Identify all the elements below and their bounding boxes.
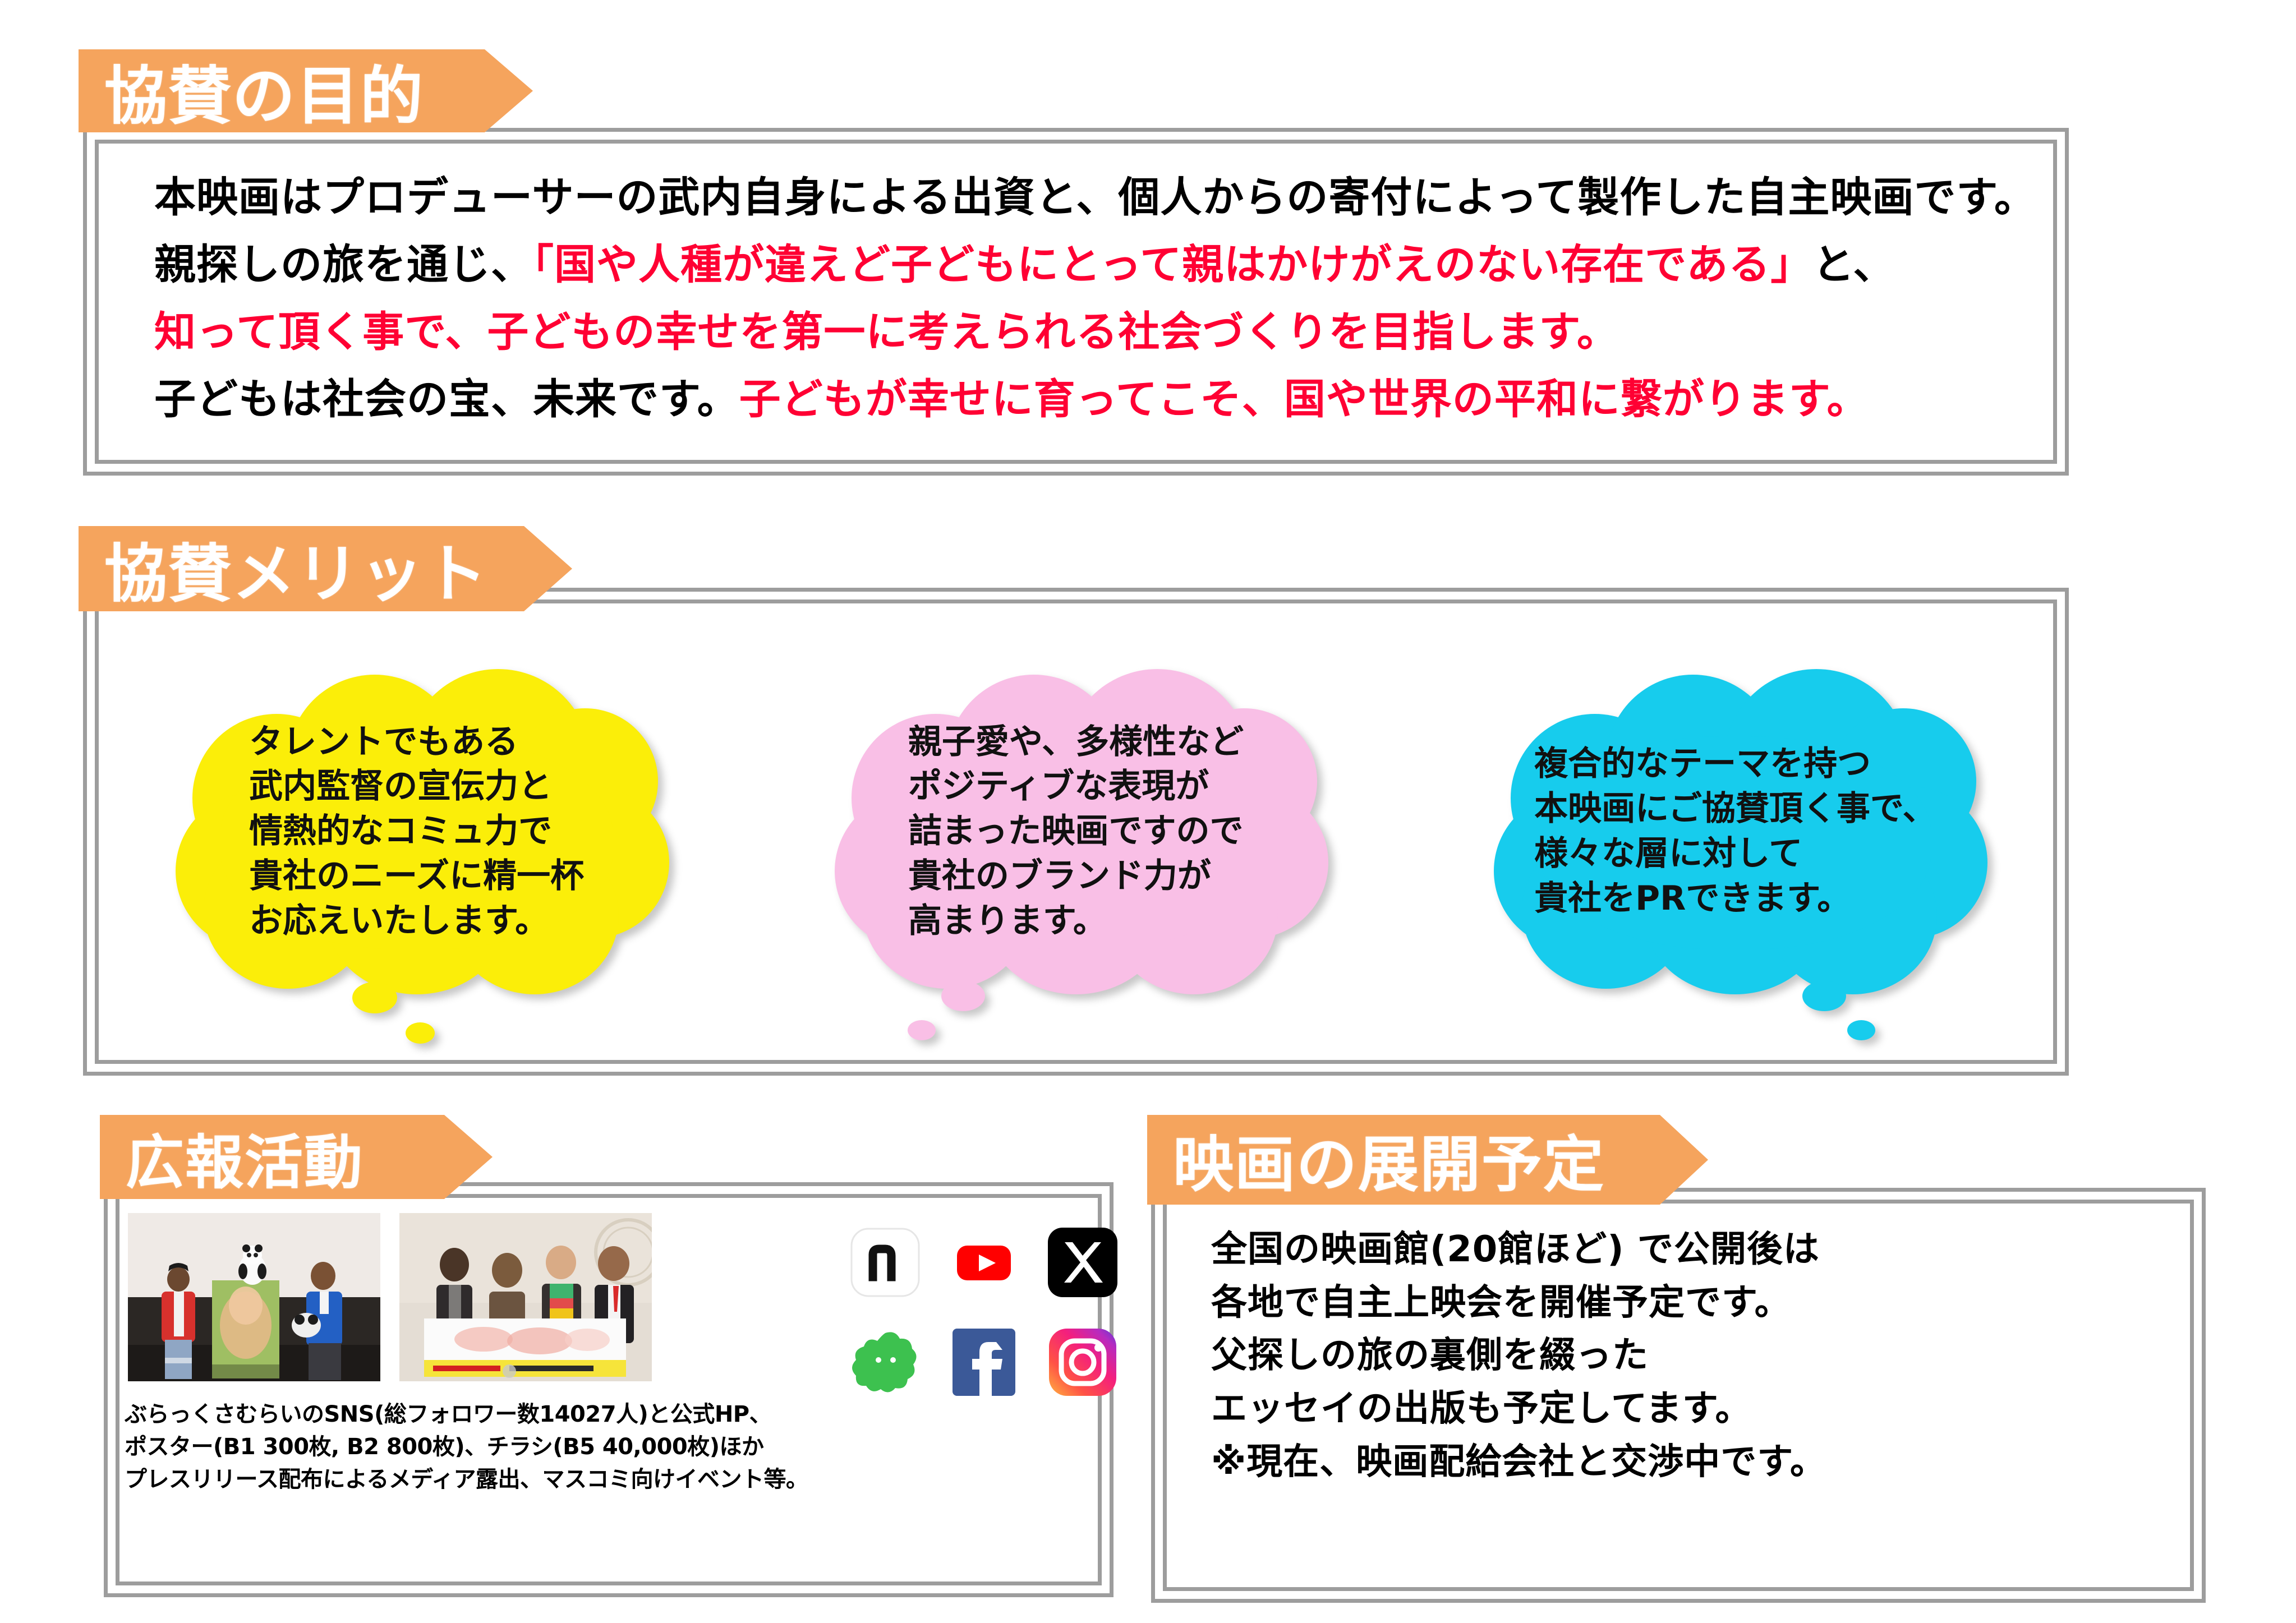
release-line-2: 各地で自主上映会を開催予定です。 <box>1211 1276 1826 1330</box>
release-line-1: 全国の映画館(20館ほど) で公開後は <box>1211 1223 1826 1276</box>
merit-banner-label: 協賛メリット <box>104 523 488 614</box>
purpose-banner: 協賛の目的 <box>79 49 533 132</box>
merit-bubble-cyan-text: 複合的なテーマを持つ 本映画にご協賛頂く事で、 様々な層に対して 貴社をPRでき… <box>1534 742 1936 921</box>
merit-banner: 協賛メリット <box>79 526 572 611</box>
pr-photo-1-image <box>128 1213 380 1381</box>
purpose-line-4-seg-1: 子どもは社会の宝、未来です。 <box>154 375 739 423</box>
purpose-line-2: 親探しの旅を通じ、「国や人種が違えど子どもにとって親はかけがえのない存在である」… <box>154 232 2031 299</box>
facebook-icon[interactable] <box>947 1325 1021 1399</box>
merit-bubble-yellow: タレントでもある 武内監督の宣伝力と 情熱的なコミュ力で 貴社のニーズに精一杯 … <box>170 663 664 1000</box>
purpose-line-4: 子どもは社会の宝、未来です。子どもが幸せに育ってこそ、国や世界の平和に繋がります… <box>154 366 2031 434</box>
pr-caption-line-1: ぶらっくさむらいのSNS(総フォロワー数14027人)と公式HP、 <box>125 1398 1098 1431</box>
pr-photo-2-image <box>399 1213 652 1381</box>
release-line-3: 父探しの旅の裏側を綴った <box>1211 1329 1826 1382</box>
pr-photo-row <box>128 1213 652 1381</box>
merit-yellow-line-5: お応えいたします。 <box>249 899 584 944</box>
ameba-icon[interactable] <box>848 1325 922 1399</box>
pr-photo-1 <box>128 1213 380 1381</box>
merit-bubble-cyan: 複合的なテーマを持つ 本映画にご協賛頂く事で、 様々な層に対して 貴社をPRでき… <box>1488 663 1982 1000</box>
merit-panel: タレントでもある 武内監督の宣伝力と 情熱的なコミュ力で 貴社のニーズに精一杯 … <box>83 588 2069 1076</box>
purpose-line-1-seg-1: 本映画はプロデューサーの武内自身による出資と、個人からの寄付によって製作した自主… <box>154 173 2036 222</box>
youtube-icon[interactable] <box>947 1225 1021 1299</box>
merit-bubble-pink-text: 親子愛や、多様性など ポジティブな表現が 詰まった映画ですので 貴社のブランド力… <box>908 720 1244 944</box>
pr-caption-block: ぶらっくさむらいのSNS(総フォロワー数14027人)と公式HP、 ポスター(B… <box>125 1398 1098 1496</box>
purpose-line-4-seg-2: 子どもが幸せに育ってこそ、国や世界の平和に繋がります。 <box>739 375 1869 423</box>
release-line-5: ※現在、映画配給会社と交渉中です。 <box>1211 1436 1826 1489</box>
instagram-icon[interactable] <box>1046 1325 1120 1399</box>
purpose-text-block: 本映画はプロデューサーの武内自身による出資と、個人からの寄付によって製作した自主… <box>154 164 2031 434</box>
release-text-block: 全国の映画館(20館ほど) で公開後は 各地で自主上映会を開催予定です。 父探し… <box>1211 1223 1826 1489</box>
purpose-line-2-seg-3: と、 <box>1812 241 1895 289</box>
merit-pink-line-2: ポジティブな表現が <box>908 764 1244 809</box>
merit-pink-line-1: 親子愛や、多様性など <box>908 720 1244 765</box>
purpose-line-2-seg-1: 親探しの旅を通じ、 <box>154 241 533 289</box>
merit-yellow-line-3: 情熱的なコミュ力で <box>249 809 584 854</box>
merit-pink-line-3: 詰まった映画ですので <box>908 809 1244 854</box>
merit-yellow-line-2: 武内監督の宣伝力と <box>249 764 584 809</box>
merit-cyan-line-1: 複合的なテーマを持つ <box>1534 742 1936 787</box>
pr-caption-line-3: プレスリリース配布によるメディア露出、マスコミ向けイベント等。 <box>125 1463 1098 1496</box>
merit-pink-line-4: 貴社のブランド力が <box>908 854 1244 899</box>
pr-panel: ぶらっくさむらいのSNS(総フォロワー数14027人)と公式HP、 ポスター(B… <box>104 1182 1114 1597</box>
pr-photo-2 <box>399 1213 652 1381</box>
release-banner-label: 映画の展開予定 <box>1173 1116 1605 1204</box>
merit-yellow-line-1: タレントでもある <box>249 720 584 765</box>
release-panel: 全国の映画館(20館ほど) で公開後は 各地で自主上映会を開催予定です。 父探し… <box>1151 1188 2206 1603</box>
merit-bubble-yellow-text: タレントでもある 武内監督の宣伝力と 情熱的なコミュ力で 貴社のニーズに精一杯 … <box>249 720 584 944</box>
purpose-line-1: 本映画はプロデューサーの武内自身による出資と、個人からの寄付によって製作した自主… <box>154 164 2031 232</box>
pr-caption-line-2: ポスター(B1 300枚, B2 800枚)、チラシ(B5 40,000枚)ほか <box>125 1431 1098 1463</box>
purpose-banner-label: 協賛の目的 <box>104 45 424 136</box>
release-line-4: エッセイの出版も予定してます。 <box>1211 1382 1826 1436</box>
purpose-line-3: 知って頂く事で、子どもの幸せを第一に考えられる社会づくりを目指します。 <box>154 299 2031 366</box>
release-banner: 映画の展開予定 <box>1147 1115 1708 1205</box>
x-twitter-icon[interactable] <box>1046 1225 1120 1299</box>
merit-bubble-row: タレントでもある 武内監督の宣伝力と 情熱的なコミュ力で 貴社のニーズに精一杯 … <box>87 592 2065 1072</box>
merit-cyan-line-2: 本映画にご協賛頂く事で、 <box>1534 787 1936 832</box>
note-icon[interactable] <box>848 1225 922 1299</box>
purpose-line-2-seg-2: 「国や人種が違えど子どもにとって親はかけがえのない存在である」 <box>533 241 1812 289</box>
merit-pink-line-5: 高まります。 <box>908 899 1244 944</box>
purpose-panel: 本映画はプロデューサーの武内自身による出資と、個人からの寄付によって製作した自主… <box>83 128 2069 476</box>
pr-banner: 広報活動 <box>100 1115 493 1199</box>
pr-banner-label: 広報活動 <box>126 1115 364 1200</box>
purpose-line-3-seg-1: 知って頂く事で、子どもの幸せを第一に考えられる社会づくりを目指します。 <box>154 308 1619 356</box>
merit-cyan-line-3: 様々な層に対して <box>1534 832 1936 877</box>
merit-yellow-line-4: 貴社のニーズに精一杯 <box>249 854 584 899</box>
sns-icon-grid <box>848 1225 1130 1409</box>
merit-cyan-line-4: 貴社をPRできます。 <box>1534 877 1936 921</box>
merit-bubble-pink: 親子愛や、多様性など ポジティブな表現が 詰まった映画ですので 貴社のブランド力… <box>829 663 1323 1000</box>
